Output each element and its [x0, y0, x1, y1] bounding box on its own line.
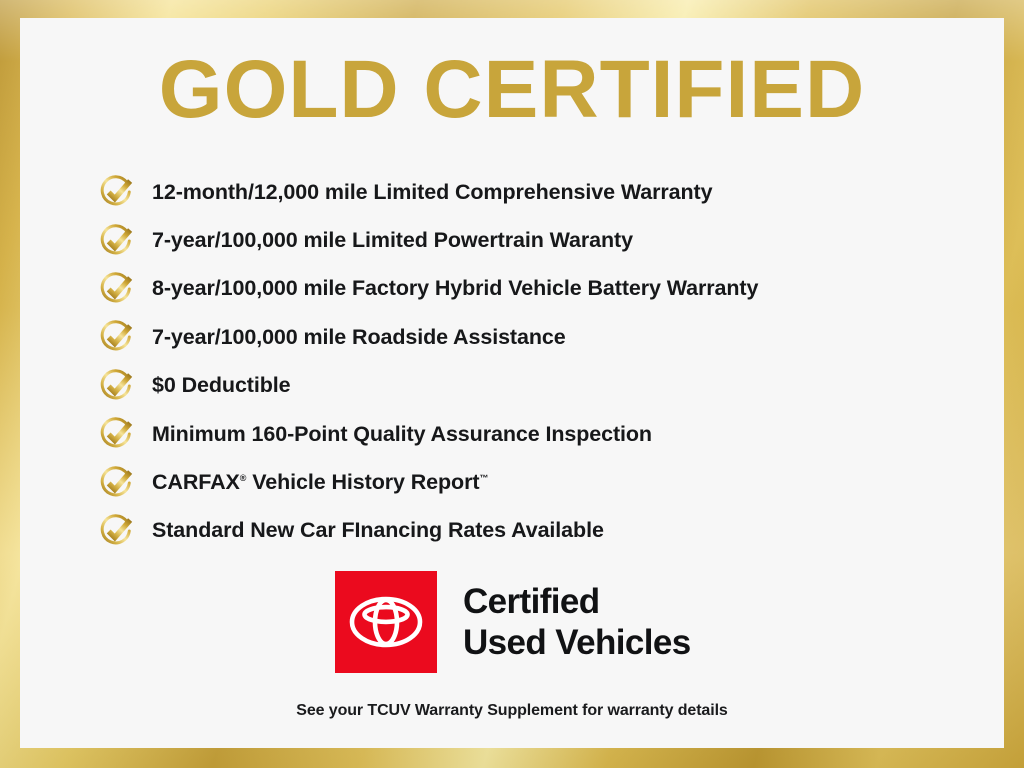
trademark-mark: ™	[479, 473, 488, 483]
wordmark-line-certified: Certified	[463, 581, 691, 622]
list-item: CARFAX® Vehicle History Report™	[96, 458, 996, 506]
list-item: Minimum 160-Point Quality Assurance Insp…	[96, 410, 996, 458]
warranty-disclaimer: See your TCUV Warranty Supplement for wa…	[20, 702, 1004, 720]
check-circle-icon	[96, 365, 138, 407]
carfax-brand-name: CARFAX	[152, 470, 240, 494]
list-item-label: 12-month/12,000 mile Limited Comprehensi…	[152, 180, 712, 205]
gold-certified-certificate: GOLD CERTIFIED	[0, 0, 1024, 768]
toyota-certified-used-vehicles-lockup: Certified Used Vehicles	[335, 571, 691, 673]
list-item: $0 Deductible	[96, 362, 996, 410]
list-item-label: Standard New Car FInancing Rates Availab…	[152, 518, 604, 543]
benefit-list: 12-month/12,000 mile Limited Comprehensi…	[96, 168, 996, 555]
list-item: 12-month/12,000 mile Limited Comprehensi…	[96, 168, 996, 216]
toyota-emblem-icon	[335, 571, 437, 673]
check-circle-icon	[96, 462, 138, 504]
list-item: 8-year/100,000 mile Factory Hybrid Vehic…	[96, 265, 996, 313]
check-circle-icon	[96, 316, 138, 358]
check-circle-icon	[96, 413, 138, 455]
list-item: 7-year/100,000 mile Roadside Assistance	[96, 313, 996, 361]
list-item-label: CARFAX® Vehicle History Report™	[152, 470, 488, 495]
toyota-wordmark: Certified Used Vehicles	[463, 581, 691, 663]
check-circle-icon	[96, 220, 138, 262]
check-circle-icon	[96, 268, 138, 310]
list-item: Standard New Car FInancing Rates Availab…	[96, 507, 996, 555]
carfax-report-label: Vehicle History Report	[246, 470, 479, 494]
wordmark-line-used-vehicles: Used Vehicles	[463, 622, 691, 663]
list-item-label: 8-year/100,000 mile Factory Hybrid Vehic…	[152, 276, 758, 301]
list-item-label: 7-year/100,000 mile Roadside Assistance	[152, 325, 566, 350]
check-circle-icon	[96, 171, 138, 213]
page-title: GOLD CERTIFIED	[20, 44, 1004, 136]
list-item-label: $0 Deductible	[152, 373, 291, 398]
check-circle-icon	[96, 510, 138, 552]
list-item: 7-year/100,000 mile Limited Powertrain W…	[96, 216, 996, 264]
list-item-label: Minimum 160-Point Quality Assurance Insp…	[152, 422, 652, 447]
list-item-label: 7-year/100,000 mile Limited Powertrain W…	[152, 228, 633, 253]
certificate-card: GOLD CERTIFIED	[20, 18, 1004, 748]
